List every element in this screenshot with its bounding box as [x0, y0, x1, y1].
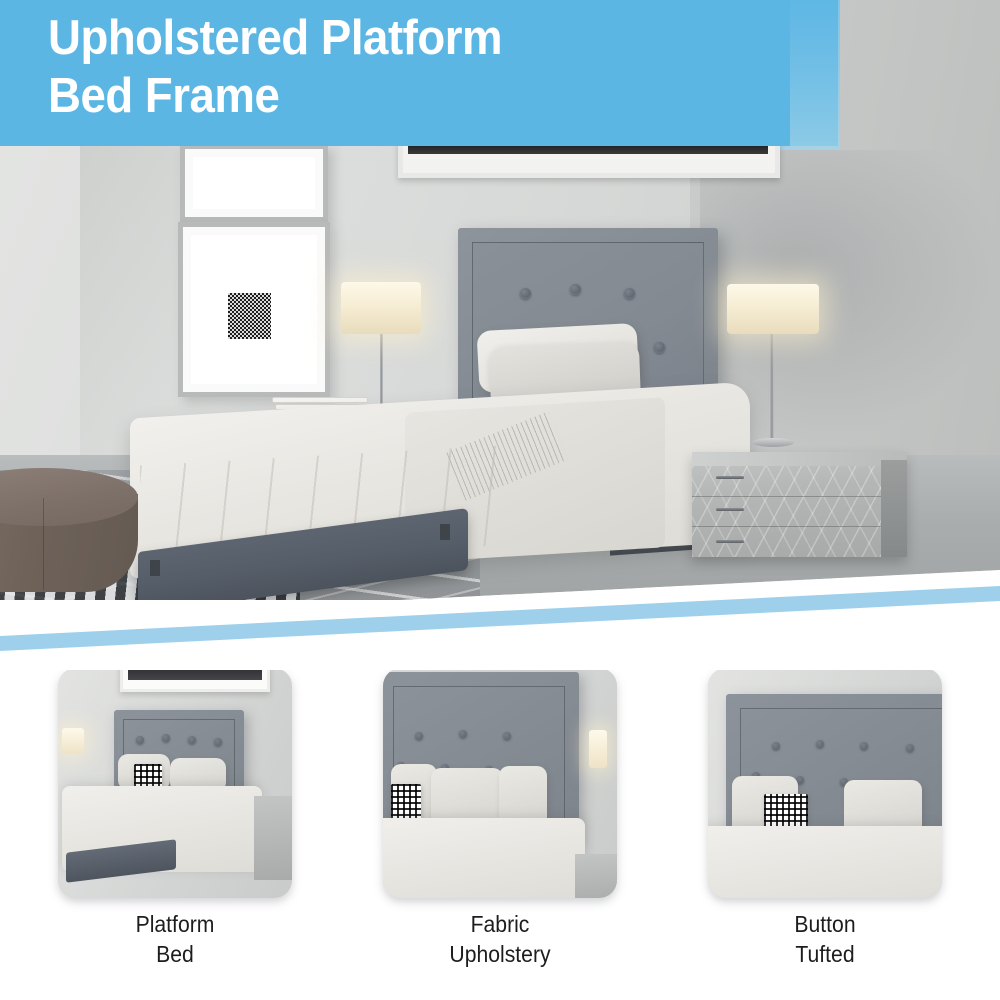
framed-art-large-icon [178, 222, 330, 397]
feature-caption-button-tufted: Button Tufted [717, 910, 932, 970]
mini-nightstand [254, 796, 292, 880]
page-title: Upholstered Platform Bed Frame [48, 10, 718, 126]
mini-tuft-button [188, 736, 196, 744]
tuft-button [654, 342, 665, 353]
mini-tuft-button [415, 732, 423, 740]
bed-leg [440, 524, 450, 540]
page-title-line2: Bed Frame [48, 68, 718, 126]
feature-image-button-tufted [708, 668, 942, 898]
tuft-button [520, 288, 531, 299]
drawer-divider [692, 526, 881, 527]
table-lamp-pole [770, 332, 774, 440]
mini-tuft-button [214, 738, 222, 746]
mini-tuft-button [860, 742, 868, 750]
mini-tuft-button [162, 734, 170, 742]
mini-tuft-button [459, 730, 467, 738]
mini-nightstand [575, 854, 617, 898]
framed-art-top-icon [180, 144, 328, 222]
feature-image-fabric-upholstery [383, 668, 617, 898]
mini-lamp-shade-icon [589, 730, 607, 768]
caption-line1: Platform [67, 910, 282, 940]
feature-thumbnails: Platform Bed [0, 668, 1000, 1000]
table-lamp-shade-icon [727, 284, 819, 334]
page-title-line1: Upholstered Platform [48, 10, 718, 68]
drawer-handle [716, 508, 744, 511]
feature-card-platform-bed[interactable] [58, 668, 292, 898]
mini-comforter [383, 818, 585, 898]
caption-line2: Upholstery [392, 940, 607, 970]
floor-lamp-shade-icon [341, 282, 421, 334]
feature-card-fabric-upholstery[interactable] [383, 668, 617, 898]
caption-line2: Bed [67, 940, 282, 970]
caption-line1: Fabric [392, 910, 607, 940]
mini-tuft-button [906, 744, 914, 752]
mini-accent-pillow [391, 784, 421, 822]
book [272, 397, 368, 403]
mini-comforter [708, 826, 942, 898]
caption-line1: Button [717, 910, 932, 940]
feature-card-button-tufted[interactable] [708, 668, 942, 898]
product-infographic: Upholstered Platform Bed Frame [0, 0, 1000, 1000]
feature-caption-fabric-upholstery: Fabric Upholstery [392, 910, 607, 970]
caption-line2: Tufted [717, 940, 932, 970]
mini-tuft-button [503, 732, 511, 740]
drawer-divider [692, 496, 881, 497]
mini-lamp-shade-icon [62, 728, 84, 754]
title-banner-fade [790, 0, 838, 146]
feature-caption-platform-bed: Platform Bed [67, 910, 282, 970]
art-image [228, 293, 271, 339]
mini-tuft-button [136, 736, 144, 744]
drawer-handle [716, 476, 744, 479]
diagonal-divider [0, 540, 1000, 670]
tuft-button [570, 284, 581, 295]
nightstand-top [692, 452, 907, 466]
art-mat [193, 157, 315, 209]
table-lamp-base [752, 438, 794, 447]
mini-tuft-button [772, 742, 780, 750]
tuft-button [624, 288, 635, 299]
feature-image-platform-bed [58, 668, 292, 898]
mini-tuft-button [816, 740, 824, 748]
